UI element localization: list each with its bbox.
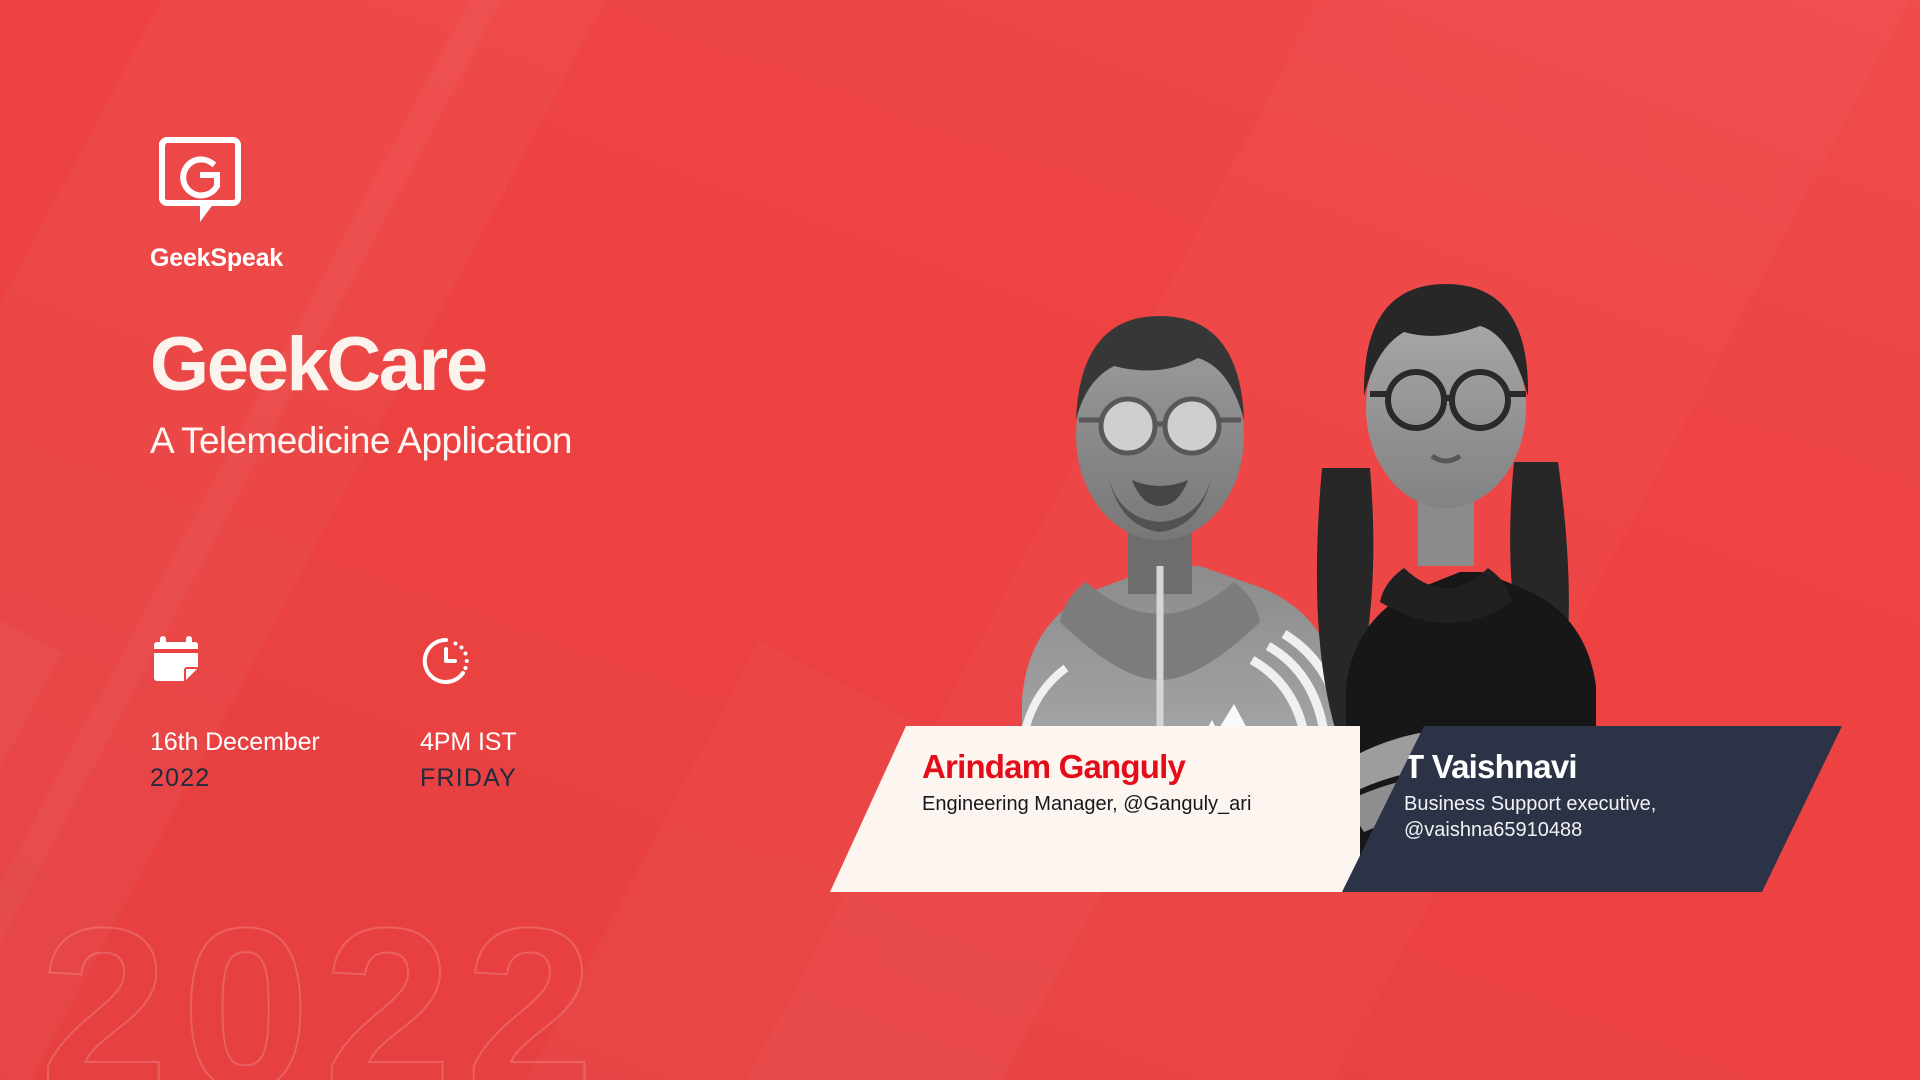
speech-bubble-g-icon [150,128,490,228]
event-time: 4PM IST [420,725,610,761]
meta-item-date: 16th December 2022 [150,635,340,796]
event-date: 16th December [150,725,340,761]
meta-time-lines: 4PM IST FRIDAY [420,725,610,796]
diagonal-streak [0,0,119,595]
webinar-banner: 2022 GeekSpeak GeekCare A Telemedicine A… [0,0,1920,1080]
calendar-icon [150,635,340,687]
headline-block: GeekCare A Telemedicine Application [150,325,870,462]
speaker-role: Engineering Manager, @Ganguly_ari [922,791,1252,817]
speaker-name: T Vaishnavi [1404,748,1812,786]
year-watermark: 2022 [40,894,608,1080]
brand-logo-block: GeekSpeak [150,128,490,273]
speaker-role: Business Support executive, @vaishna6591… [1404,791,1734,843]
speaker-cards: Arindam Ganguly Engineering Manager, @Ga… [830,726,1842,892]
speaker-card: Arindam Ganguly Engineering Manager, @Ga… [830,726,1360,892]
brand-name: GeekSpeak [150,244,490,273]
page-title: GeekCare [150,325,870,404]
meta-date-lines: 16th December 2022 [150,725,340,796]
event-subtitle: A Telemedicine Application [150,420,870,462]
meta-item-time: 4PM IST FRIDAY [420,635,610,796]
speaker-name: Arindam Ganguly [922,748,1330,786]
event-year: 2022 [150,761,340,797]
speaker-card: T Vaishnavi Business Support executive, … [1342,726,1842,892]
event-weekday: FRIDAY [420,761,610,797]
event-meta-block: 16th December 2022 4PM IST FRIDAY [150,635,610,796]
clock-icon [420,635,610,687]
